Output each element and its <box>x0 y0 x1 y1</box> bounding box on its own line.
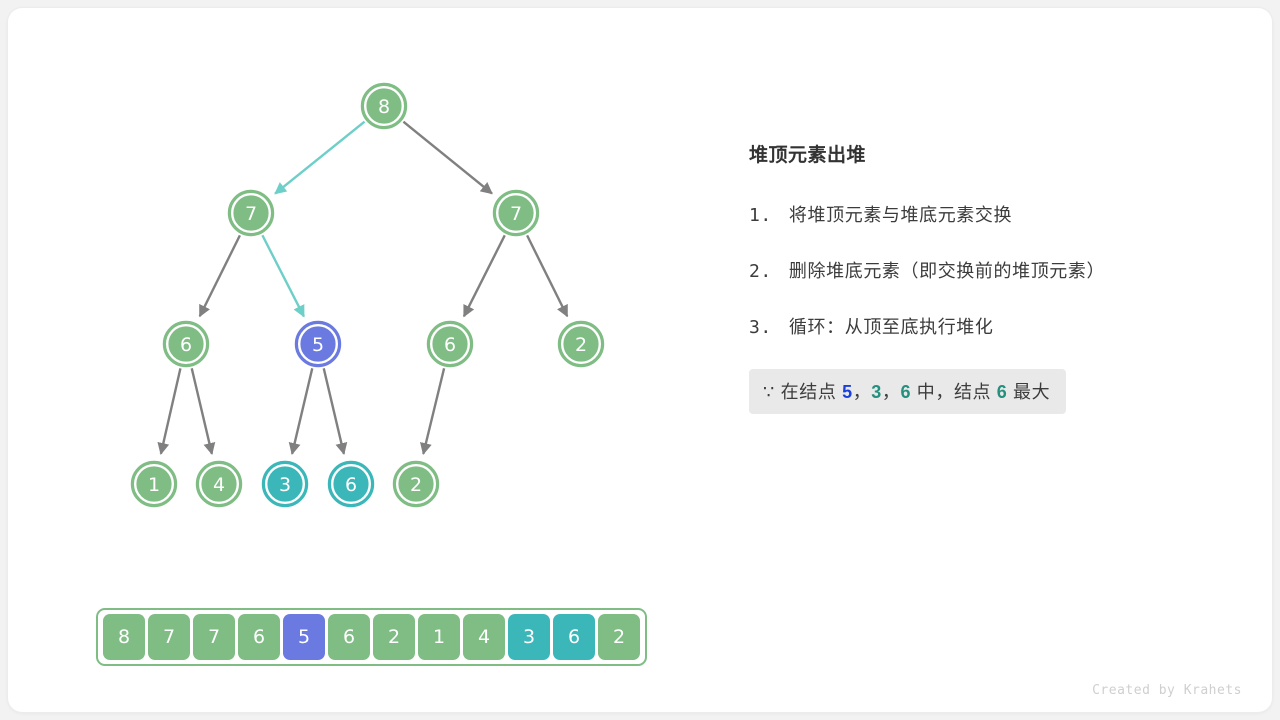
array-cell[interactable]: 2 <box>373 614 415 660</box>
explanation-panel: 堆顶元素出堆 1. 将堆顶元素与堆底元素交换2. 删除堆底元素（即交换前的堆顶元… <box>749 140 1219 414</box>
page-title: 堆顶元素出堆 <box>749 140 1219 167</box>
tree-node[interactable]: 4 <box>197 462 241 506</box>
step-number: 1. <box>749 205 783 226</box>
diagram-card: 877656214362 877656214362 堆顶元素出堆 1. 将堆顶元… <box>8 8 1272 712</box>
therefore-icon: ∵ <box>763 382 781 402</box>
node-value: 5 <box>312 334 324 356</box>
step-item: 1. 将堆顶元素与堆底元素交换 <box>749 201 1219 227</box>
step-text: 删除堆底元素（即交换前的堆顶元素） <box>783 261 1105 281</box>
tree-edge <box>192 368 212 453</box>
tree-edge <box>423 368 444 454</box>
tree-edge <box>527 235 567 316</box>
note-prefix: 在结点 <box>781 382 842 402</box>
tree-edge <box>200 235 240 316</box>
tree-edge <box>292 368 312 453</box>
array-cell[interactable]: 8 <box>103 614 145 660</box>
node-value: 2 <box>410 474 422 496</box>
steps-list: 1. 将堆顶元素与堆底元素交换2. 删除堆底元素（即交换前的堆顶元素）3. 循环… <box>749 201 1219 339</box>
note-middle: 中，结点 <box>911 382 997 402</box>
note-candidate-0: 5 <box>842 382 853 402</box>
tree-node[interactable]: 3 <box>263 462 307 506</box>
node-value: 1 <box>148 474 160 496</box>
node-value: 8 <box>378 96 390 118</box>
node-value: 3 <box>279 474 291 496</box>
tree-node[interactable]: 6 <box>428 322 472 366</box>
heap-array: 877656214362 <box>96 608 647 666</box>
node-value: 6 <box>345 474 357 496</box>
credit-label: Created by Krahets <box>1092 683 1242 698</box>
step-number: 3. <box>749 317 783 338</box>
step-text: 循环：从顶至底执行堆化 <box>783 317 993 337</box>
tree-node[interactable]: 8 <box>362 84 406 128</box>
node-value: 4 <box>213 474 225 496</box>
node-value: 7 <box>245 203 257 225</box>
tree-edge <box>275 122 364 194</box>
step-text: 将堆顶元素与堆底元素交换 <box>783 205 1012 225</box>
tree-edge <box>161 368 181 453</box>
tree-edge <box>464 235 505 316</box>
tree-edge <box>403 122 491 194</box>
note-comma: ， <box>882 382 901 402</box>
array-cell[interactable]: 3 <box>508 614 550 660</box>
tree-node[interactable]: 6 <box>164 322 208 366</box>
array-cell[interactable]: 7 <box>193 614 235 660</box>
tree-edges <box>161 122 567 454</box>
tree-nodes: 877656214362 <box>132 84 603 506</box>
tree-node[interactable]: 2 <box>559 322 603 366</box>
reason-note: ∵ 在结点 5，3，6 中，结点 6 最大 <box>749 369 1066 414</box>
binary-heap-tree: 877656214362 <box>8 8 708 568</box>
step-item: 2. 删除堆底元素（即交换前的堆顶元素） <box>749 257 1219 283</box>
tree-node[interactable]: 7 <box>494 191 538 235</box>
tree-edge <box>324 368 344 453</box>
node-value: 2 <box>575 334 587 356</box>
note-suffix: 最大 <box>1007 382 1050 402</box>
tree-node[interactable]: 7 <box>229 191 273 235</box>
tree-node[interactable]: 6 <box>329 462 373 506</box>
node-value: 7 <box>510 203 522 225</box>
array-cell[interactable]: 1 <box>418 614 460 660</box>
node-value: 6 <box>180 334 192 356</box>
array-cell[interactable]: 6 <box>238 614 280 660</box>
array-cell[interactable]: 5 <box>283 614 325 660</box>
step-number: 2. <box>749 261 783 282</box>
array-cell[interactable]: 6 <box>553 614 595 660</box>
array-cell[interactable]: 6 <box>328 614 370 660</box>
array-cell[interactable]: 2 <box>598 614 640 660</box>
array-cell[interactable]: 7 <box>148 614 190 660</box>
tree-node[interactable]: 1 <box>132 462 176 506</box>
node-value: 6 <box>444 334 456 356</box>
tree-node[interactable]: 2 <box>394 462 438 506</box>
step-item: 3. 循环：从顶至底执行堆化 <box>749 313 1219 339</box>
tree-node[interactable]: 5 <box>296 322 340 366</box>
note-candidate-1: 3 <box>871 382 882 402</box>
array-cell[interactable]: 4 <box>463 614 505 660</box>
tree-edge <box>262 235 304 316</box>
note-winner: 6 <box>997 382 1008 402</box>
note-candidate-2: 6 <box>901 382 912 402</box>
note-comma: ， <box>853 382 872 402</box>
